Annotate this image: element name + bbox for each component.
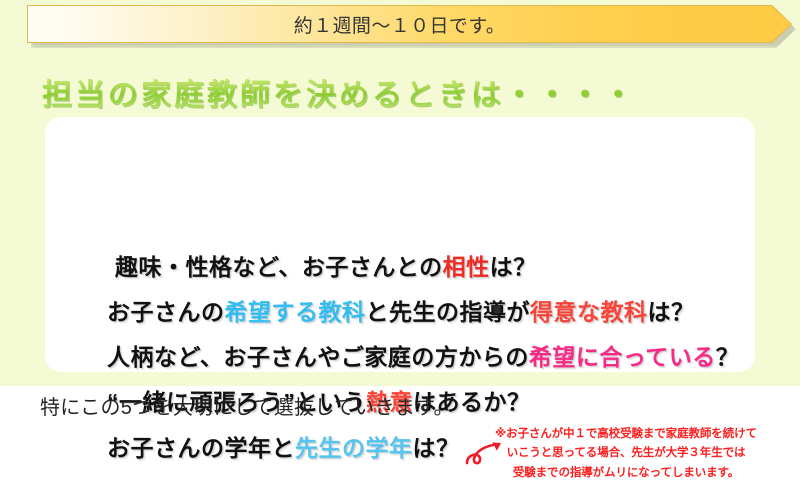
footnote-line-2: いこうと思ってる場合、先生が大学３年生では xyxy=(495,444,757,463)
checkpoint-segment: 得意な教科 xyxy=(530,299,648,325)
checkpoint-segment: は？ xyxy=(413,435,460,461)
footer-caption: 特にこの5つを大切にして選抜していきます。 xyxy=(40,391,454,420)
checkpoint-line-2: お子さんの希望する教科と先生の指導が得意な教科は？ xyxy=(107,293,695,327)
checkpoint-segment: 相性 xyxy=(443,254,490,280)
checkpoint-segment: は？ xyxy=(648,299,695,325)
checkpoint-line-5: お子さんの学年と先生の学年は？ xyxy=(107,429,460,463)
footnote-line-3: 受験までの指導がムリになってしまいます。 xyxy=(495,464,757,483)
content-stage: 約１週間～１０日です。 担当の家庭教師を決めるときは・・・・ 趣味・性格など、お… xyxy=(0,0,800,386)
checkpoint-segment: ？ xyxy=(716,344,740,370)
checkpoint-segment: 先生の学年 xyxy=(295,435,413,461)
footnote-line-1: ※お子さんが中１で高校受験まで家庭教師を続けて xyxy=(495,425,757,444)
checkpoint-segment: と先生の指導が xyxy=(366,299,531,325)
checkpoint-card: 趣味・性格など、お子さんとの相性は？ お子さんの希望する教科と先生の指導が得意な… xyxy=(45,117,755,372)
footnote: ※お子さんが中１で高校受験まで家庭教師を続けて いこうと思ってる場合、先生が大学… xyxy=(495,425,757,483)
checkpoint-segment: 趣味・性格など、お子さんとの xyxy=(115,254,443,280)
arrow-banner-text: 約１週間～１０日です。 xyxy=(27,5,772,43)
checkpoint-line-3: 人柄など、お子さんやご家庭の方からの希望に合っている？ xyxy=(107,338,739,372)
checkpoint-segment: 希望する教科 xyxy=(225,299,366,325)
checkpoint-segment: は？ xyxy=(490,254,537,280)
page-title: 担当の家庭教師を決めるときは・・・・ xyxy=(42,70,636,114)
checkpoint-segment: お子さんの学年と xyxy=(107,435,295,461)
checkpoint-line-1: 趣味・性格など、お子さんとの相性は？ xyxy=(115,248,537,282)
checkpoint-segment: お子さんの xyxy=(107,299,225,325)
arrow-banner: 約１週間～１０日です。 xyxy=(27,5,792,43)
checkpoint-segment: 人柄など、お子さんやご家庭の方からの xyxy=(107,344,529,370)
checkpoint-segment: 希望に合っている xyxy=(529,344,716,370)
